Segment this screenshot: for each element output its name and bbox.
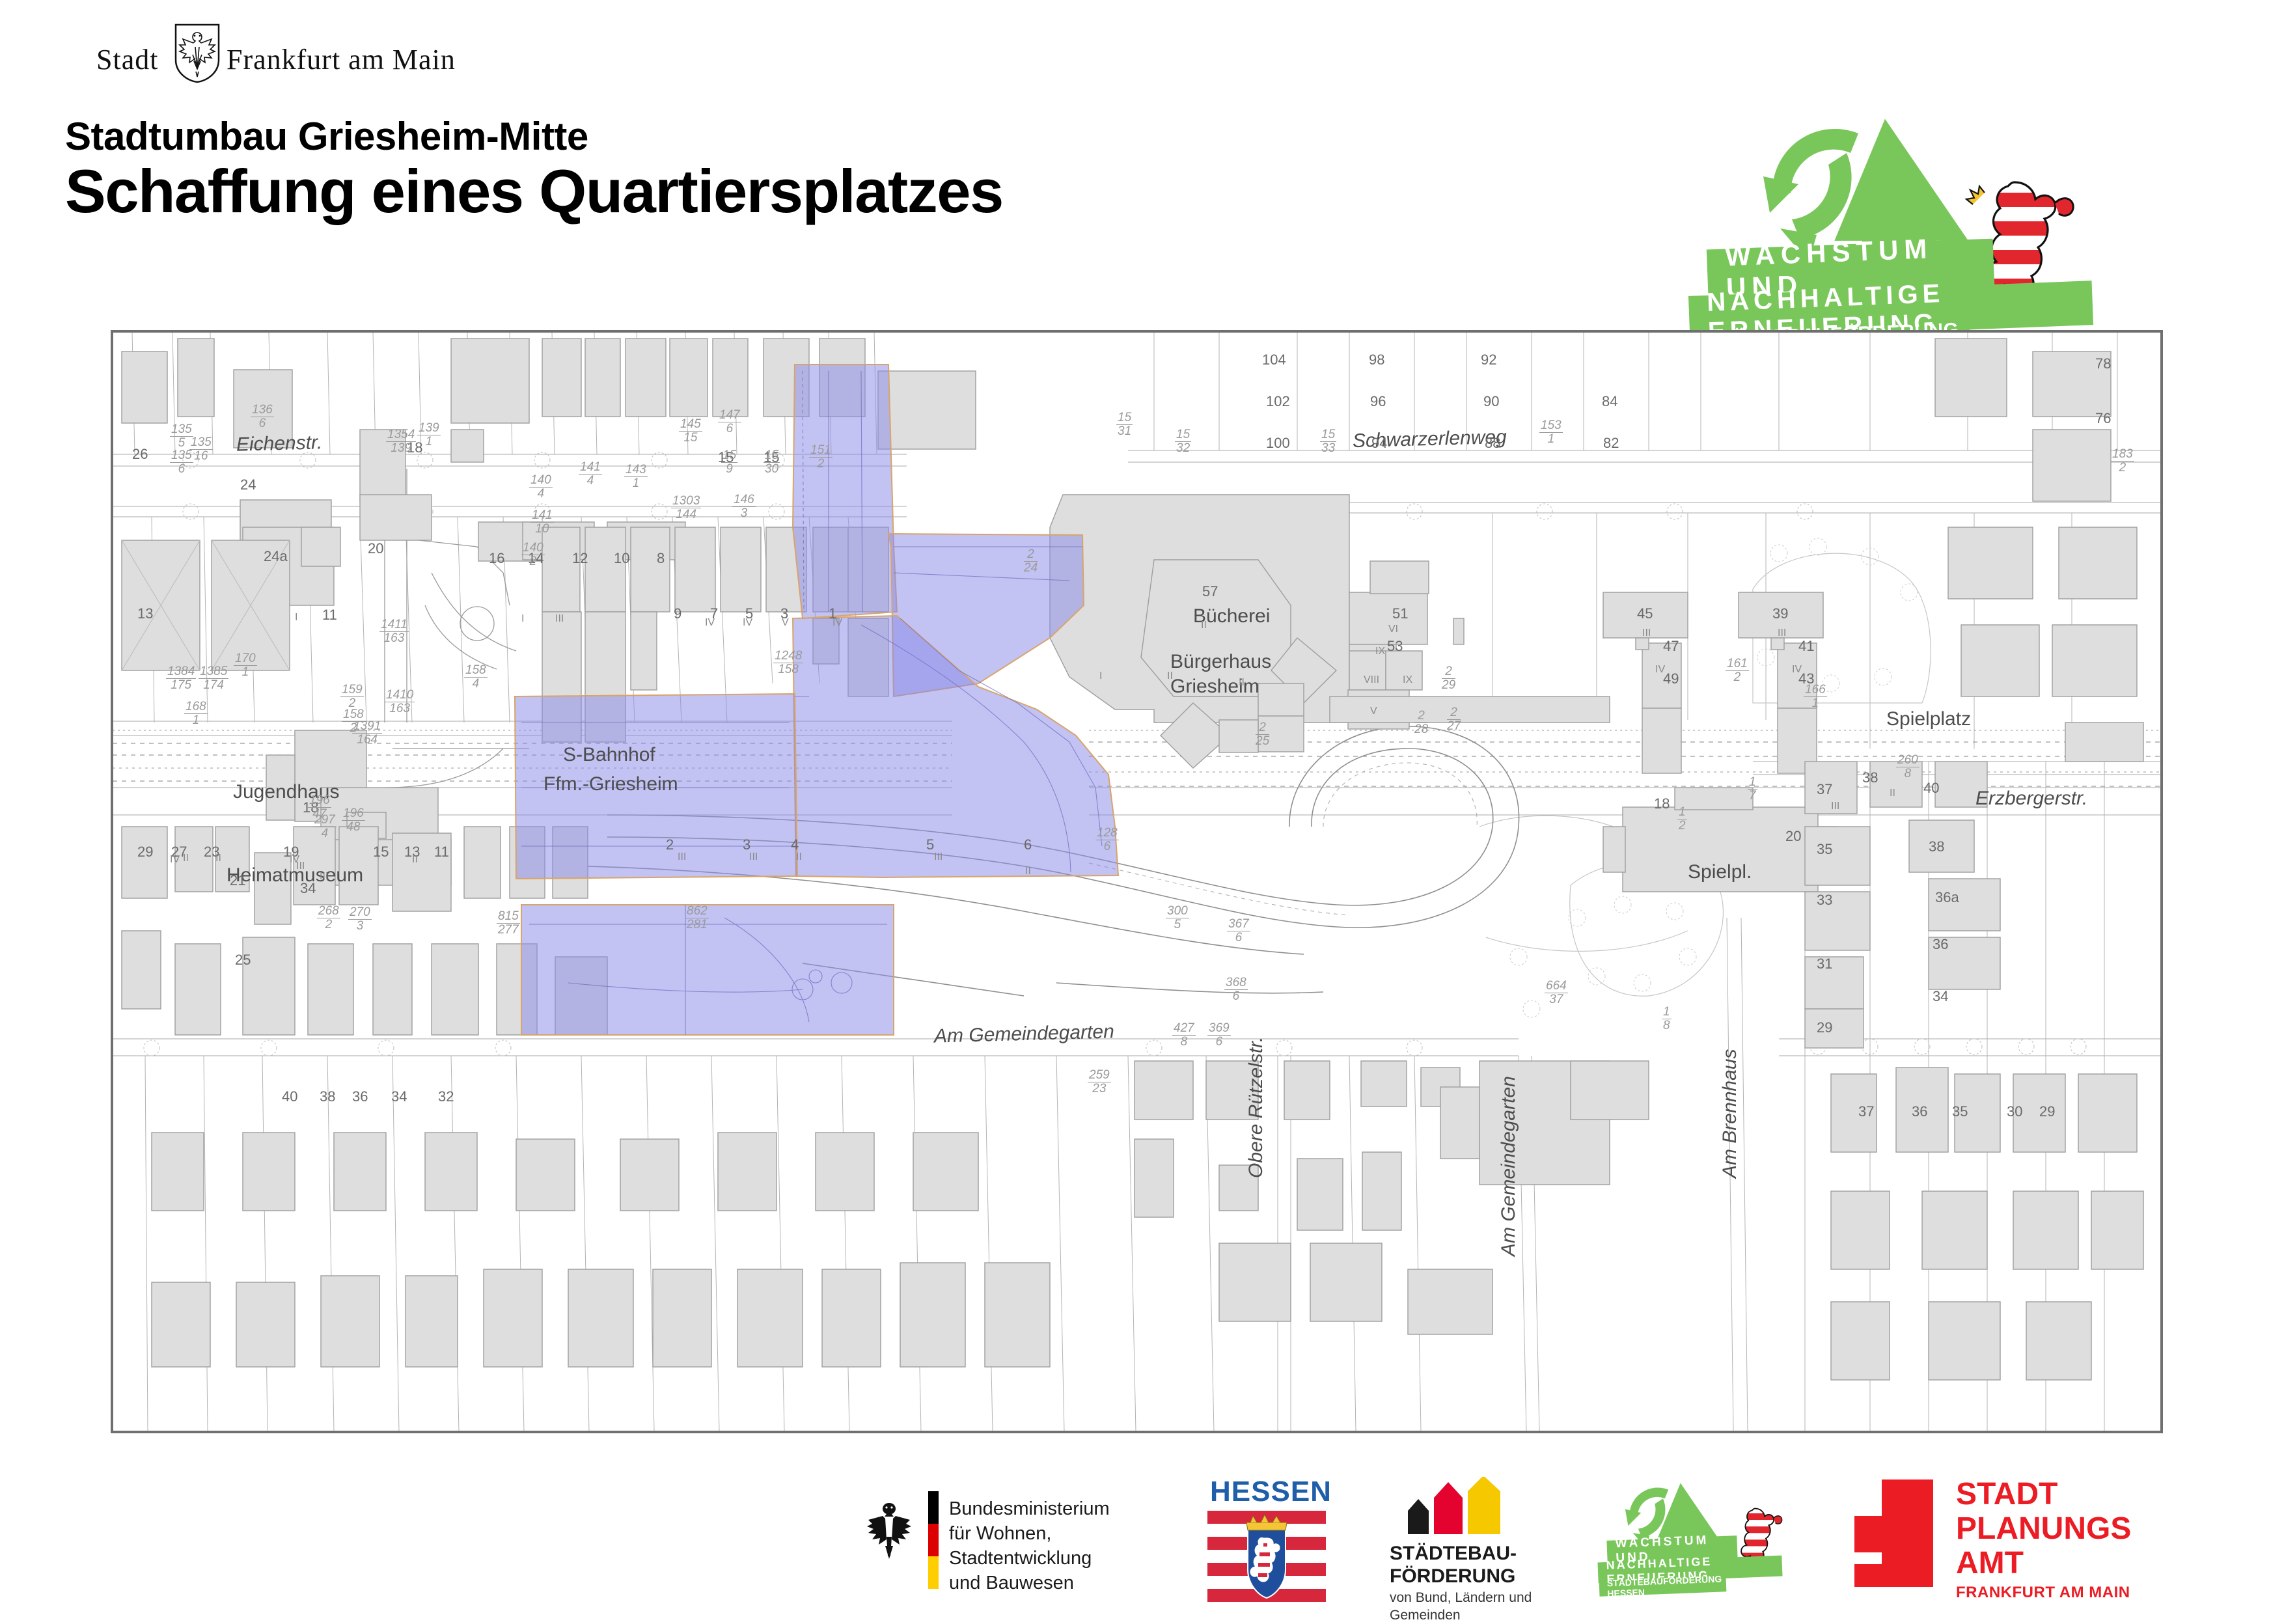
cadastral-map[interactable]: Eichenstr. Schwarzerlenweg Am Gemeindega… bbox=[111, 330, 2163, 1433]
stadtplanungsamt-red-block-icon bbox=[1845, 1479, 1933, 1587]
bundesadler-icon bbox=[866, 1499, 913, 1562]
project-subtitle: Stadtumbau Griesheim-Mitte bbox=[65, 114, 588, 159]
staedtebau-line-4: Gemeinden bbox=[1390, 1606, 1532, 1624]
staedtebau-line-2: FÖRDERUNG bbox=[1390, 1565, 1517, 1588]
wachstum-erneuerung-logo-small: WACHSTUM UND NACHHALTIGE ERNEUERUNG STÄD… bbox=[1598, 1481, 1813, 1598]
spa-line-2: PLANUNGS bbox=[1956, 1511, 2131, 1546]
german-flag-bar-icon bbox=[928, 1491, 939, 1589]
spa-line-1: STADT bbox=[1956, 1477, 2131, 1511]
staedtebaufoerderung-logo: STÄDTEBAU- FÖRDERUNG von Bund, Ländern u… bbox=[1390, 1477, 1552, 1607]
staedtebau-line-1: STÄDTEBAU- bbox=[1390, 1542, 1517, 1565]
stadtplanungsamt-logo: STADT PLANUNGS AMT FRANKFURT AM MAIN bbox=[1845, 1479, 2158, 1603]
map-vector-layer bbox=[113, 332, 2161, 1431]
small-badge-band-staedtebau: STÄDTEBAUFÖRDERUNG HESSEN bbox=[1599, 1576, 1727, 1596]
three-houses-black-red-gold-icon bbox=[1403, 1477, 1507, 1535]
bmwsb-line-2: für Wohnen, Stadtentwicklung bbox=[949, 1521, 1172, 1571]
bmwsb-logo: Bundesministerium für Wohnen, Stadtentwi… bbox=[866, 1481, 1172, 1598]
stadtplanungsamt-name: STADT PLANUNGS AMT bbox=[1956, 1477, 2131, 1580]
staedtebau-title: STÄDTEBAU- FÖRDERUNG bbox=[1390, 1542, 1517, 1588]
funding-logo-bar: Bundesministerium für Wohnen, Stadtentwi… bbox=[0, 1468, 2284, 1614]
staedtebau-sub: von Bund, Ländern und Gemeinden bbox=[1390, 1589, 1532, 1624]
bmwsb-line-1: Bundesministerium bbox=[949, 1496, 1172, 1521]
stadt-frankfurt-logo: Stadt Frankfurt am Main bbox=[96, 30, 513, 76]
spa-subline: FRANKFURT AM MAIN bbox=[1956, 1584, 2130, 1602]
city-logo-word-stadt: Stadt bbox=[96, 43, 158, 76]
bmwsb-name: Bundesministerium für Wohnen, Stadtentwi… bbox=[949, 1496, 1172, 1595]
hessen-wordmark: HESSEN bbox=[1210, 1476, 1332, 1508]
city-logo-word-frankfurt-am-main: Frankfurt am Main bbox=[227, 43, 456, 76]
hessen-state-logo: HESSEN bbox=[1207, 1476, 1328, 1606]
hessen-coat-of-arms-flag-icon bbox=[1207, 1511, 1326, 1604]
spa-line-3: AMT bbox=[1956, 1546, 2131, 1580]
page-header: Stadt Frankfurt am Main Stadtumba bbox=[0, 0, 2284, 306]
bmwsb-line-3: und Bauwesen bbox=[949, 1571, 1172, 1595]
staedtebau-line-3: von Bund, Ländern und bbox=[1390, 1589, 1532, 1606]
page-title: Schaffung eines Quartiersplatzes bbox=[65, 156, 1003, 227]
map-canvas: Eichenstr. Schwarzerlenweg Am Gemeindega… bbox=[113, 332, 2161, 1431]
frankfurt-eagle-crest-icon bbox=[173, 23, 221, 83]
